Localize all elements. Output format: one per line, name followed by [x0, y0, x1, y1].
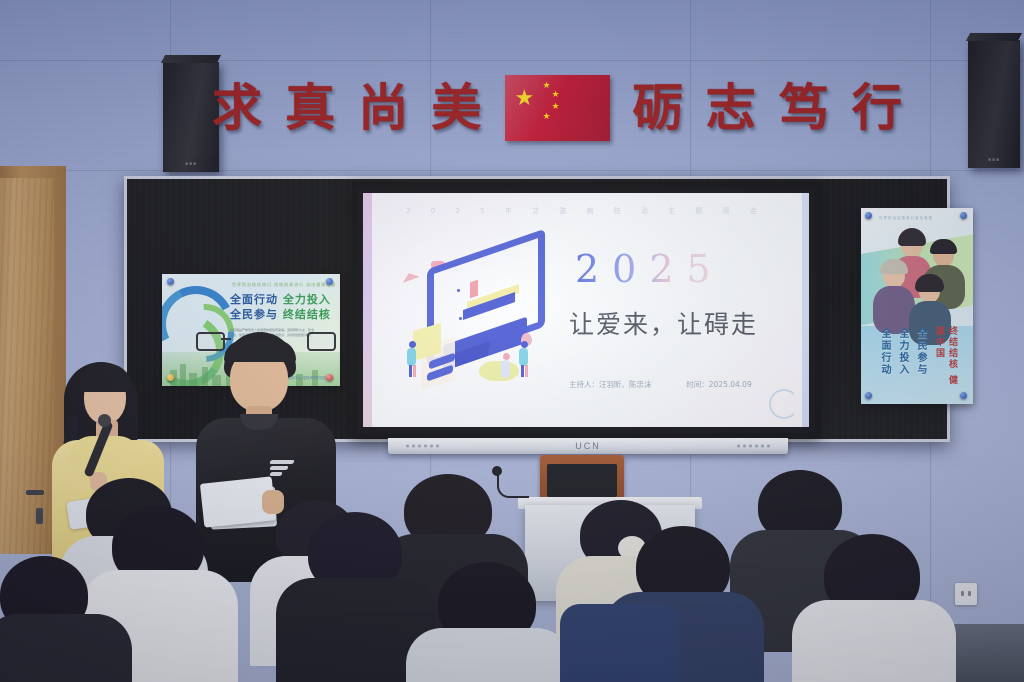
- slide-title: 让爱来，让碍走: [569, 305, 758, 341]
- illustration-chip: [470, 280, 478, 299]
- smartboard-brand-label: UCN: [575, 441, 601, 451]
- microphone-arm: [497, 470, 529, 498]
- outlet-slot: [961, 591, 964, 596]
- poster-tuberculosis-right: 世界防治结核病日宣传海报 全面行动 全力投入 全民参与 终结结核 健康中国: [861, 208, 973, 404]
- illustration-dot: [457, 289, 460, 292]
- poster-headline-part: 终结结核: [283, 308, 331, 321]
- slide-decorative-ring: [769, 389, 799, 419]
- slide-meta-line: 主持人：汪羽昕、陈忠沫 时间：2025.04.09: [569, 379, 752, 390]
- slide-header-text: 2 0 2 5 年 艾 滋 病 防 治 主 题 班 会: [406, 206, 766, 216]
- poster-headline-part: 全力投入: [283, 293, 331, 306]
- door-lock[interactable]: [36, 508, 43, 524]
- glasses-bridge: [221, 338, 231, 340]
- wall-motto-banner: 求 真 尚 美 ★ ★ ★ ★ ★ 砺 志 笃 行: [212, 72, 902, 144]
- glasses-lens: [307, 332, 336, 351]
- glasses-lens: [196, 332, 225, 351]
- presenter-fringe: [224, 340, 296, 362]
- illustration-yellow-blob: [479, 361, 519, 381]
- motto-char: 真: [285, 83, 335, 133]
- flag-gloss: [505, 75, 610, 141]
- pushpin-icon: [960, 212, 967, 219]
- wall-panel-seam: [0, 60, 1024, 61]
- poster-headline: 全面行动 全力投入 全民参与 终结结核: [230, 292, 331, 322]
- bezel-control-dots-right[interactable]: [737, 445, 770, 448]
- poster-vertical-text-red: 终结结核 健康中国: [933, 326, 959, 396]
- motto-char: 行: [852, 83, 902, 133]
- presentation-slide: 2 0 2 5 年 艾 滋 病 防 治 主 题 班 会: [363, 193, 809, 427]
- presenter-hair-front: [79, 364, 131, 392]
- student-torso: [792, 600, 956, 682]
- speaker-top-face: [161, 55, 221, 63]
- pushpin-icon: [960, 392, 967, 399]
- poster-person-hair: [898, 228, 926, 246]
- podium-monitor-screen: [547, 464, 617, 497]
- bezel-control-dots-left[interactable]: [406, 445, 439, 448]
- slide-isometric-illustration: [401, 245, 561, 395]
- wall-speaker-right: ■■■: [968, 40, 1020, 168]
- motto-char: 砺: [633, 83, 683, 133]
- sweatshirt-emblem: [270, 460, 296, 476]
- slide-right-gradient-bar: [802, 193, 809, 427]
- door-handle[interactable]: [26, 490, 44, 495]
- student-torso: [406, 628, 572, 682]
- poster-headline-part: 全民参与: [230, 308, 278, 321]
- poster-tiny-header: 世界防治结核病日宣传海报: [879, 216, 933, 221]
- poster-headline-part: 全面行动: [230, 293, 278, 306]
- pushpin-icon: [167, 278, 174, 285]
- pushpin-icon: [167, 374, 174, 381]
- slide-time-label: 时间：2025.04.09: [686, 380, 751, 389]
- speaker-brand-label: ■■■: [968, 157, 1020, 163]
- poster-vertical-text: 全力投入: [895, 328, 910, 392]
- smartboard-display[interactable]: 2 0 2 5 年 艾 滋 病 防 治 主 题 班 会: [352, 182, 820, 438]
- classroom-presentation-scene: ■■■ ■■■ 求 真 尚 美 ★ ★ ★ ★ ★ 砺 志 笃 行: [0, 0, 1024, 682]
- illustration-dot: [459, 317, 462, 320]
- motto-char: 求: [212, 83, 262, 133]
- motto-char: 美: [431, 83, 481, 133]
- student-torso: [0, 614, 132, 682]
- motto-char: 志: [706, 83, 756, 133]
- paper-plane-icon: [400, 270, 419, 283]
- poster-person-hair: [930, 239, 957, 254]
- motto-char: 尚: [358, 83, 408, 133]
- smartboard-bottom-bezel[interactable]: UCN: [388, 438, 788, 454]
- outlet-slot: [968, 591, 971, 596]
- presenter-hand: [262, 490, 284, 514]
- speaker-brand-label: ■■■: [163, 161, 219, 167]
- podium-monitor: [540, 455, 624, 501]
- microphone-head: [98, 414, 111, 427]
- pushpin-icon: [865, 212, 872, 219]
- poster-vertical-text: 全民参与: [913, 328, 928, 392]
- student-backpack: [560, 604, 680, 682]
- slide-host-label: 主持人：汪羽昕、陈忠沫: [569, 380, 652, 389]
- speaker-top-face: [966, 33, 1022, 41]
- door-wood-grain: [0, 178, 54, 554]
- slide-year: 2025: [575, 247, 724, 291]
- poster-vertical-text: 全面行动: [877, 328, 892, 392]
- wall-panel-seam: [0, 170, 1024, 171]
- wooden-door[interactable]: [0, 178, 54, 554]
- chinese-national-flag-icon: ★ ★ ★ ★ ★: [505, 75, 610, 141]
- microphone-icon: [492, 466, 502, 476]
- slide-left-gradient-bar: [363, 193, 372, 427]
- motto-char: 笃: [779, 83, 829, 133]
- wall-speaker-left: ■■■: [163, 62, 219, 172]
- wall-power-outlet[interactable]: [955, 583, 977, 605]
- poster-tiny-header: 世界防治结核病日 终结结核流行 自由健康呼吸: [232, 282, 336, 288]
- pushpin-icon: [326, 278, 333, 285]
- pushpin-icon: [865, 392, 872, 399]
- poster-person-hair: [880, 259, 908, 274]
- poster-person-hair: [915, 274, 944, 292]
